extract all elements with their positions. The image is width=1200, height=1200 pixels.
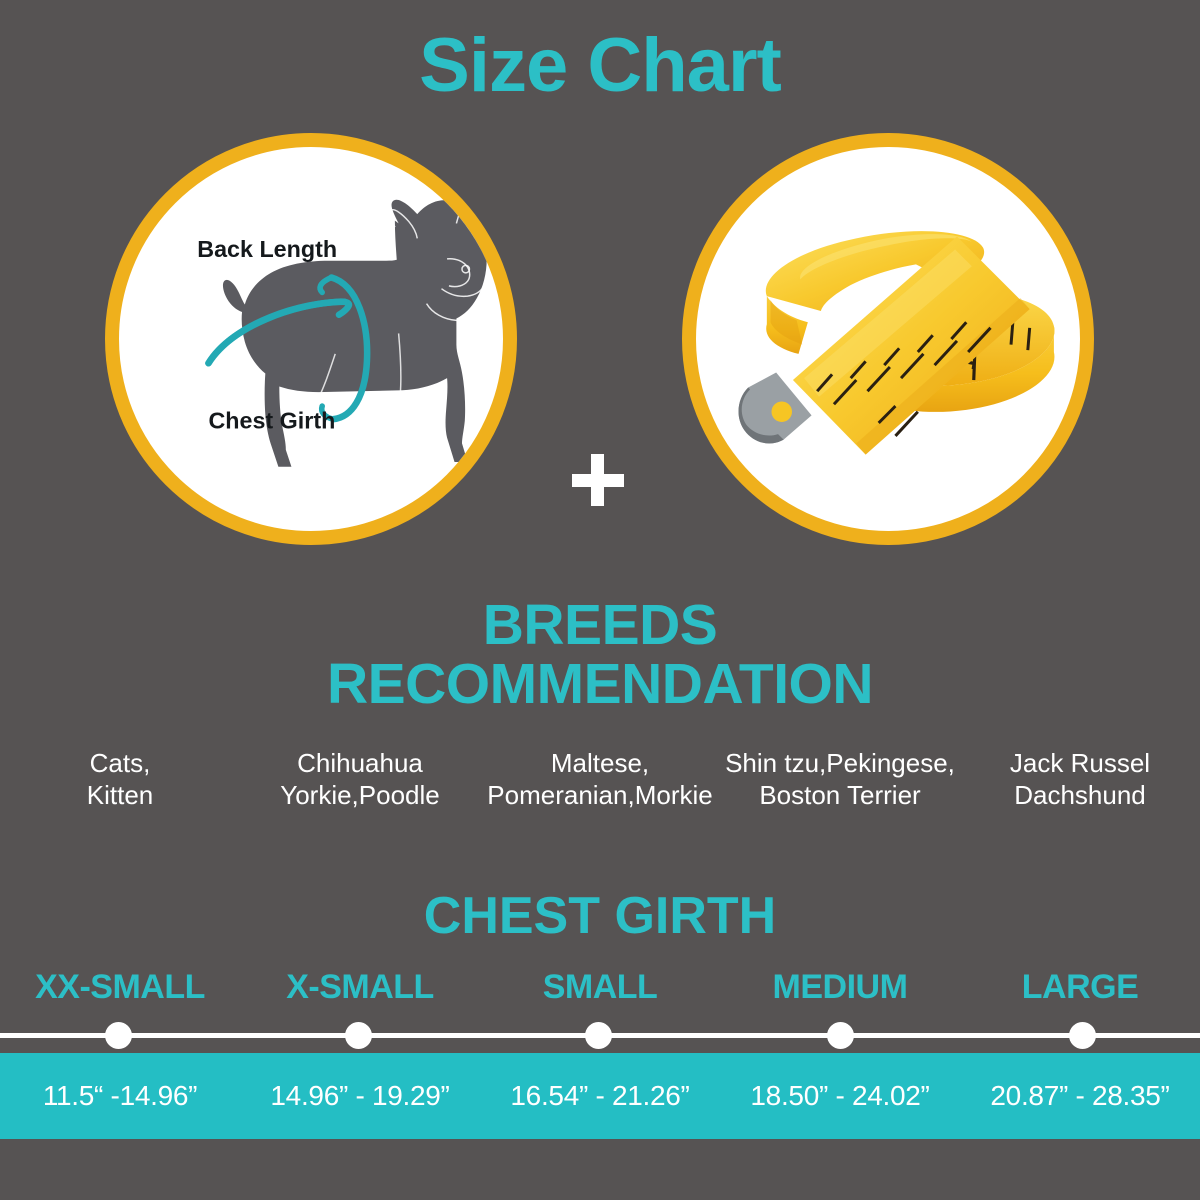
breeds-recommendation-heading: BREEDS RECOMMENDATION — [0, 596, 1200, 715]
axis-dot-medium — [827, 1022, 854, 1049]
axis-dot-small — [585, 1022, 612, 1049]
chest-girth-label: Chest Girth — [208, 407, 335, 433]
axis-dot-xx-small — [105, 1022, 132, 1049]
size-label-x-small: X-SMALL — [240, 968, 480, 1007]
size-label-medium: MEDIUM — [720, 968, 960, 1007]
breeds-heading-line-1: BREEDS — [0, 596, 1200, 655]
page-title: Size Chart — [0, 28, 1200, 104]
breed-column-large: Jack Russel Dachshund — [960, 748, 1200, 811]
plus-icon-vertical-bar — [591, 454, 604, 506]
axis-dot-x-small — [345, 1022, 372, 1049]
dog-measurement-diagram: Back Length Chest Girth — [119, 147, 503, 531]
measuring-tape-circle: 16 — [682, 133, 1094, 545]
breed-column-xx-small: Cats, Kitten — [0, 748, 240, 811]
chest-girth-heading: CHEST GIRTH — [0, 886, 1200, 946]
size-label-small: SMALL — [480, 968, 720, 1007]
axis-dot-large — [1069, 1022, 1096, 1049]
breed-column-small: Maltese, Pomeranian,Morkie — [480, 748, 720, 811]
size-label-large: LARGE — [960, 968, 1200, 1007]
measurement-x-small: 14.96” - 19.29” — [240, 1080, 480, 1112]
illustration-row: Back Length Chest Girth — [0, 133, 1200, 573]
measurement-small: 16.54” - 21.26” — [480, 1080, 720, 1112]
breed-column-x-small: Chihuahua Yorkie,Poodle — [240, 748, 480, 811]
breed-column-medium: Shin tzu,Pekingese, Boston Terrier — [720, 748, 960, 811]
size-axis — [0, 1022, 1200, 1050]
back-length-label: Back Length — [197, 236, 337, 262]
measurement-xx-small: 11.5“ -14.96” — [0, 1080, 240, 1112]
size-label-row: XX-SMALL X-SMALL SMALL MEDIUM LARGE — [0, 968, 1200, 1007]
breeds-columns: Cats, Kitten Chihuahua Yorkie,Poodle Mal… — [0, 748, 1200, 811]
measurement-large: 20.87” - 28.35” — [960, 1080, 1200, 1112]
size-label-xx-small: XX-SMALL — [0, 968, 240, 1007]
measurement-medium: 18.50” - 24.02” — [720, 1080, 960, 1112]
measuring-tape-illustration: 16 — [696, 147, 1080, 531]
dog-measurement-circle: Back Length Chest Girth — [105, 133, 517, 545]
plus-icon — [566, 448, 630, 512]
breeds-heading-line-2: RECOMMENDATION — [0, 655, 1200, 714]
chest-girth-measurement-band: 11.5“ -14.96” 14.96” - 19.29” 16.54” - 2… — [0, 1053, 1200, 1139]
